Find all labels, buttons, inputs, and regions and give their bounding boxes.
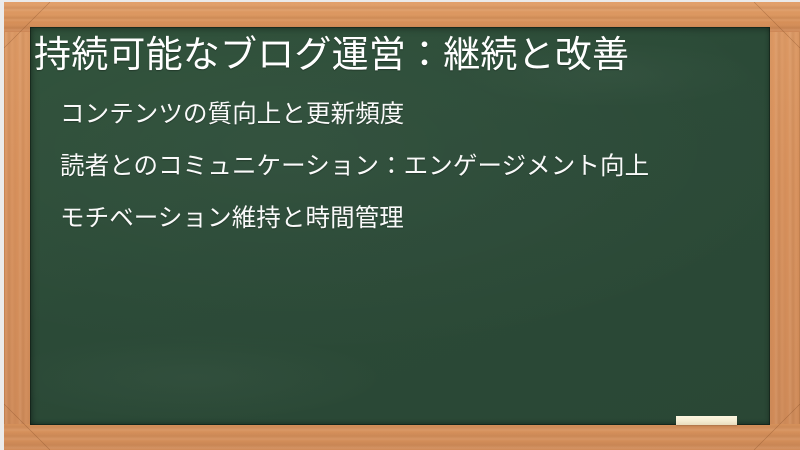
frame-rail-bottom <box>4 424 800 450</box>
chalkboard-surface: 持続可能なブログ運営：継続と改善 コンテンツの質向上と更新頻度 読者とのコミュニ… <box>30 27 770 425</box>
page-title: 持続可能なブログ運営：継続と改善 <box>32 32 752 77</box>
blackboard-slide: 持続可能なブログ運営：継続と改善 コンテンツの質向上と更新頻度 読者とのコミュニ… <box>0 0 800 450</box>
bullet-list: コンテンツの質向上と更新頻度 読者とのコミュニケーション：エンゲージメント向上 … <box>32 97 752 234</box>
list-item: コンテンツの質向上と更新頻度 <box>60 97 738 131</box>
list-item: モチベーション維持と時間管理 <box>60 201 738 235</box>
board-content: 持続可能なブログ運営：継続と改善 コンテンツの質向上と更新頻度 読者とのコミュニ… <box>30 27 770 425</box>
list-item: 読者とのコミュニケーション：エンゲージメント向上 <box>60 149 738 183</box>
chalk-stick <box>676 416 737 425</box>
